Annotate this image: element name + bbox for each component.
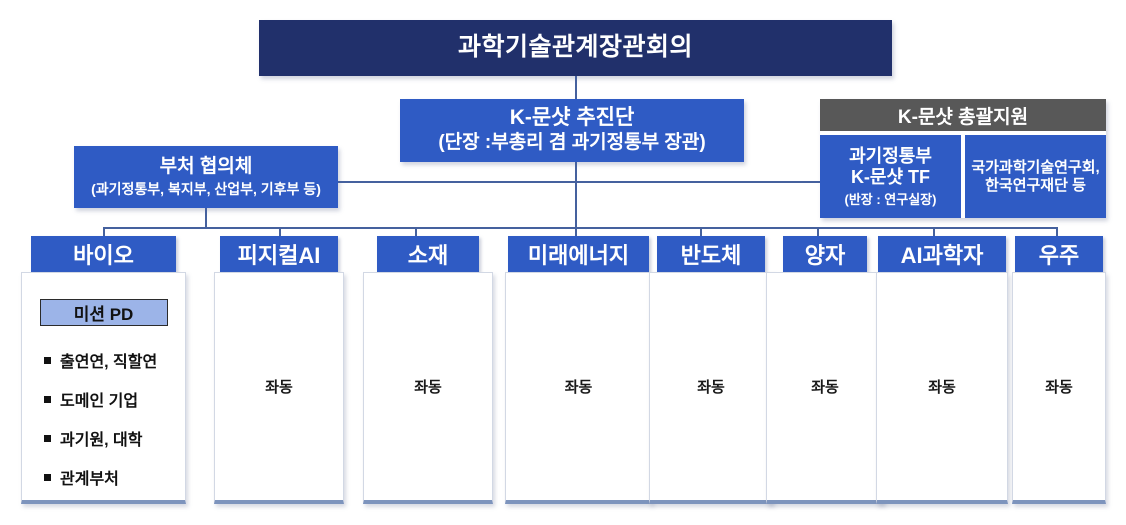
support-tf-line3: (반장 : 연구실장): [845, 192, 937, 208]
support-institutes-line2: 한국연구재단 등: [985, 177, 1086, 195]
list-item: 도메인 기업: [44, 387, 157, 411]
support-group-header-label: K-문샷 총괄지원: [898, 102, 1028, 129]
support-group: K-문샷 총괄지원 과기정통부 K-문샷 TF (반장 : 연구실장) 국가과학…: [820, 99, 1106, 218]
connector-ministries-stub: [205, 208, 207, 228]
support-tf-line2: K-문샷 TF: [851, 167, 930, 189]
column-header-semiconductor[interactable]: 반도체: [657, 236, 765, 272]
column-header-future-energy[interactable]: 미래에너지: [508, 236, 649, 272]
support-institutes-line1: 국가과학기술연구회,: [971, 159, 1099, 177]
bullet-icon: [44, 396, 51, 403]
column-physical-ai[interactable]: 피지컬AI 좌동: [214, 236, 344, 504]
list-item: 관계부처: [44, 465, 157, 489]
column-header-ai-scientist[interactable]: AI과학자: [878, 236, 1006, 272]
list-item-label: 도메인 기업: [60, 387, 138, 411]
column-body-bio: 미션 PD 출연연, 직할연 도메인 기업 과기원, 대학 관계부처: [21, 272, 186, 504]
ministries-council-subtitle: (과기정통부, 복지부, 산업부, 기후부 등): [91, 181, 321, 198]
column-body-ai-scientist: 좌동: [876, 272, 1008, 504]
bullet-icon: [44, 435, 51, 442]
column-body-semiconductor: 좌동: [649, 272, 773, 504]
column-body-text: 좌동: [265, 376, 293, 397]
list-item-label: 과기원, 대학: [60, 426, 143, 450]
council-box: 과학기술관계장관회의: [259, 20, 892, 76]
list-item-label: 관계부처: [60, 465, 119, 489]
connector-promotion-to-bus: [575, 162, 577, 228]
column-semiconductor[interactable]: 반도체 좌동: [649, 236, 773, 504]
column-body-text: 좌동: [565, 376, 593, 397]
column-future-energy[interactable]: 미래에너지 좌동: [505, 236, 652, 504]
column-body-materials: 좌동: [363, 272, 493, 504]
support-institutes-cell: 국가과학기술연구회, 한국연구재단 등: [965, 135, 1106, 218]
ministries-council-box: 부처 협의체 (과기정통부, 복지부, 산업부, 기후부 등): [74, 146, 338, 208]
list-item: 출연연, 직할연: [44, 348, 157, 372]
column-header-physical-ai[interactable]: 피지컬AI: [220, 236, 338, 272]
list-item-label: 출연연, 직할연: [60, 348, 157, 372]
support-tf-cell: 과기정통부 K-문샷 TF (반장 : 연구실장): [820, 135, 961, 218]
column-body-future-energy: 좌동: [505, 272, 652, 504]
connector-column-bus: [103, 227, 1056, 229]
support-group-header: K-문샷 총괄지원: [820, 99, 1106, 131]
connector-council-to-promotion: [575, 76, 577, 99]
bullet-icon: [44, 357, 51, 364]
column-body-text: 좌동: [697, 376, 725, 397]
column-body-text: 좌동: [928, 376, 956, 397]
bullet-icon: [44, 474, 51, 481]
council-title: 과학기술관계장관회의: [458, 33, 693, 63]
ministries-council-title: 부처 협의체: [160, 156, 253, 178]
column-materials[interactable]: 소재 좌동: [363, 236, 493, 504]
org-chart: 과학기술관계장관회의 K-문샷 추진단 (단장 :부총리 겸 과기정통부 장관)…: [0, 0, 1126, 525]
column-header-space[interactable]: 우주: [1015, 236, 1103, 272]
column-bio[interactable]: 바이오 미션 PD 출연연, 직할연 도메인 기업 과기원, 대학 관: [21, 236, 186, 504]
column-body-quantum: 좌동: [766, 272, 884, 504]
mission-pd-badge: 미션 PD: [40, 299, 168, 326]
column-header-materials[interactable]: 소재: [377, 236, 479, 272]
column-body-physical-ai: 좌동: [214, 272, 344, 504]
support-tf-line1: 과기정통부: [849, 146, 932, 168]
column-header-quantum[interactable]: 양자: [783, 236, 867, 272]
column-quantum[interactable]: 양자 좌동: [766, 236, 884, 504]
column-body-text: 좌동: [811, 376, 839, 397]
promotion-group-subtitle: (단장 :부총리 겸 과기정통부 장관): [438, 132, 705, 154]
column-body-text: 좌동: [414, 376, 442, 397]
bio-participant-list: 출연연, 직할연 도메인 기업 과기원, 대학 관계부처: [44, 348, 157, 504]
connector-ministries-to-support: [338, 181, 820, 183]
column-body-text: 좌동: [1045, 376, 1073, 397]
column-header-bio[interactable]: 바이오: [31, 236, 176, 272]
promotion-group-title: K-문샷 추진단: [510, 106, 635, 131]
promotion-group-box: K-문샷 추진단 (단장 :부총리 겸 과기정통부 장관): [400, 99, 744, 162]
column-ai-scientist[interactable]: AI과학자 좌동: [876, 236, 1008, 504]
column-body-space: 좌동: [1012, 272, 1106, 504]
list-item: 과기원, 대학: [44, 426, 157, 450]
column-space[interactable]: 우주 좌동: [1012, 236, 1106, 504]
